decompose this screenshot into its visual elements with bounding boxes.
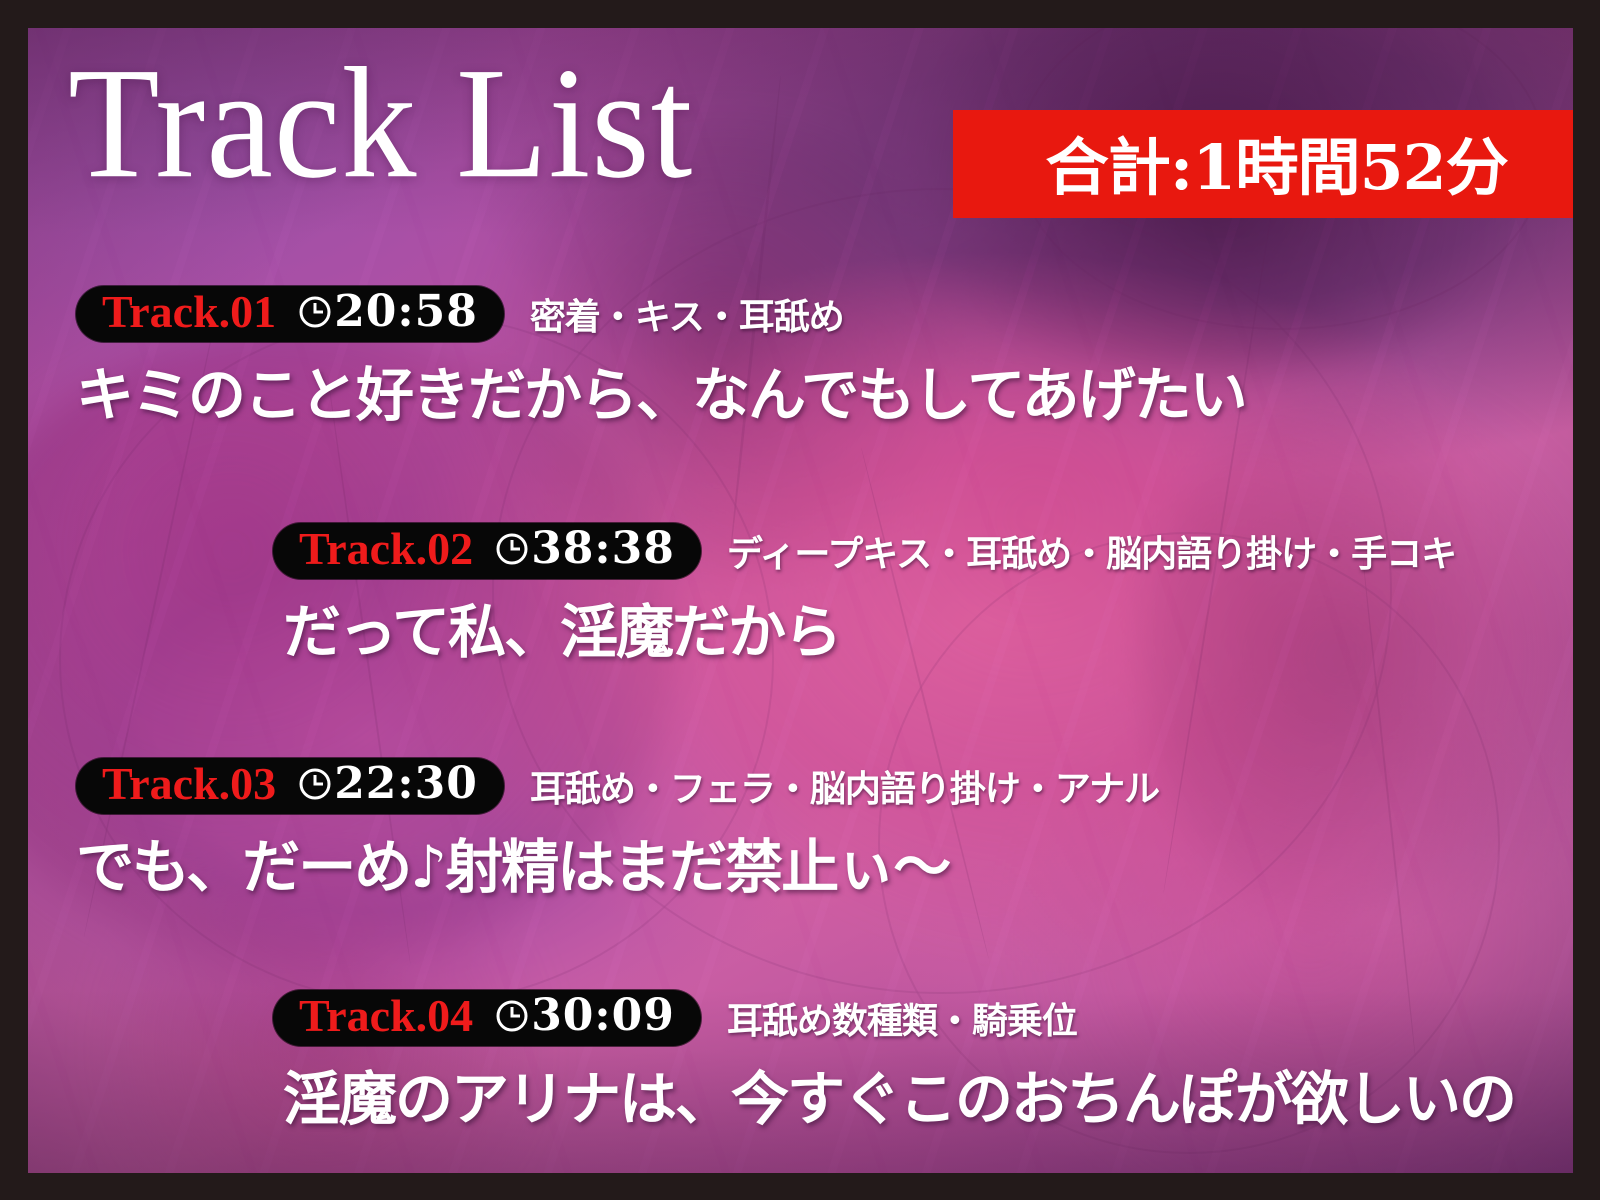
track-meta-pill: Track.02 38:38: [273, 523, 701, 579]
track-meta-pill: Track.03 22:30: [76, 758, 504, 814]
track-tags: 密着・キス・耳舐め: [530, 288, 844, 340]
track-row[interactable]: Track.01 20:58 密着・キス・耳舐め キミのこと好きだから、なんでも…: [76, 286, 1246, 432]
track-tags: 耳舐め・フェラ・脳内語り掛け・アナル: [530, 760, 1159, 812]
track-tags: ディープキス・耳舐め・脳内語り掛け・手コキ: [727, 525, 1456, 577]
track-title: だって私、淫魔だから: [283, 585, 1456, 669]
track-duration: 30:09: [531, 994, 675, 1038]
track-duration: 20:58: [334, 290, 478, 334]
track-header: Track.02 38:38 ディープキス・耳舐め・脳内語り掛け・手コキ: [273, 523, 1456, 579]
clock-icon: [495, 999, 529, 1033]
clock-icon: [495, 532, 529, 566]
track-row[interactable]: Track.03 22:30 耳舐め・フェラ・脳内語り掛け・アナル でも、だーめ…: [76, 758, 1159, 904]
track-duration: 38:38: [531, 527, 675, 571]
track-meta-pill: Track.04 30:09: [273, 990, 701, 1046]
poster-frame: Track List 合計:1時間52分 Track.01: [0, 0, 1600, 1200]
artwork-canvas: Track List 合計:1時間52分 Track.01: [28, 28, 1573, 1173]
track-title: でも、だーめ♪射精はまだ禁止ぃ～: [76, 820, 1159, 904]
track-row[interactable]: Track.02 38:38 ディープキス・耳舐め・脳内語り掛け・手コキ だって…: [273, 523, 1456, 669]
track-header: Track.01 20:58 密着・キス・耳舐め: [76, 286, 1246, 342]
track-duration: 22:30: [334, 762, 478, 806]
track-row[interactable]: Track.04 30:09 耳舐め数種類・騎乗位 淫魔のアリナは、今すぐこのお…: [273, 990, 1515, 1136]
total-duration-badge: 合計:1時間52分: [953, 110, 1573, 218]
clock-icon: [298, 295, 332, 329]
track-label: Track.03: [102, 761, 276, 807]
total-duration-text: 合計:1時間52分: [1046, 117, 1508, 207]
track-header: Track.03 22:30 耳舐め・フェラ・脳内語り掛け・アナル: [76, 758, 1159, 814]
track-label: Track.01: [102, 289, 276, 335]
track-tags: 耳舐め数種類・騎乗位: [727, 992, 1077, 1044]
page-title: Track List: [68, 30, 693, 218]
clock-icon: [298, 767, 332, 801]
track-label: Track.04: [299, 993, 473, 1039]
track-meta-pill: Track.01 20:58: [76, 286, 504, 342]
track-header: Track.04 30:09 耳舐め数種類・騎乗位: [273, 990, 1515, 1046]
track-title: 淫魔のアリナは、今すぐこのおちんぽが欲しいの: [283, 1052, 1515, 1136]
track-title: キミのこと好きだから、なんでもしてあげたい: [76, 348, 1246, 432]
track-label: Track.02: [299, 526, 473, 572]
